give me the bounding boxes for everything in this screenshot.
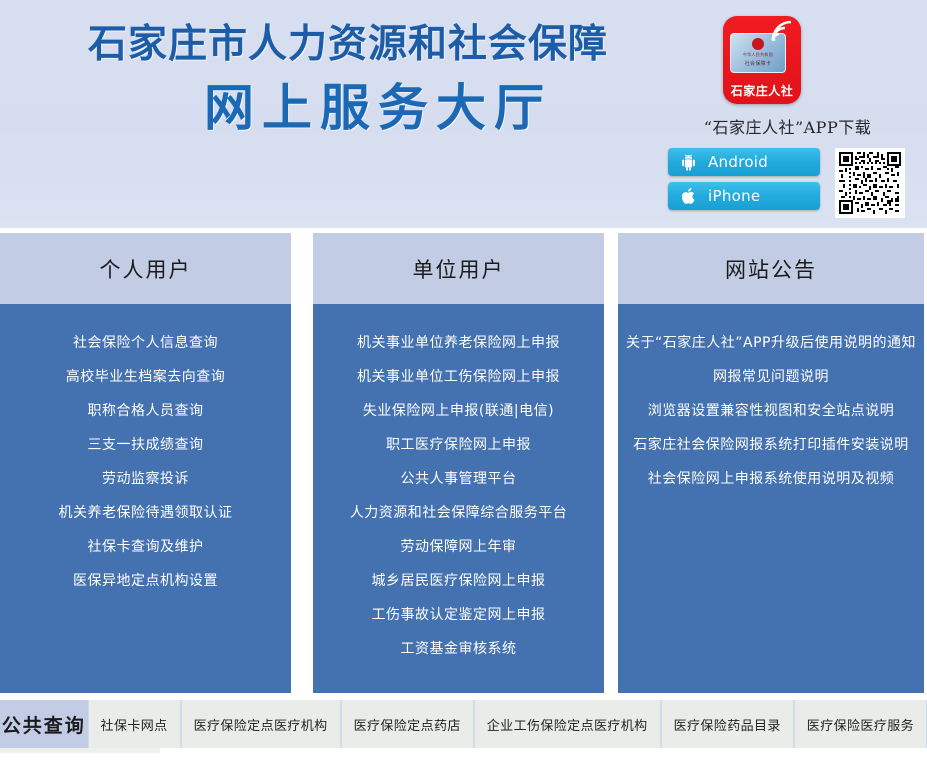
panel-body-announcements: 关于“石家庄人社”APP升级后使用说明的通知 网报常见问题说明 浏览器设置兼容性… xyxy=(618,304,924,693)
panel-title: 网站公告 xyxy=(725,254,817,284)
app-icon: 中华人民共和国 社会保障卡 石家庄人社 xyxy=(723,16,801,104)
public-query-tabs: 社保卡网点 医疗保险定点医疗机构 医疗保险定点药店 企业工伤保险定点医疗机构 医… xyxy=(88,700,927,748)
panel-link[interactable]: 社保卡查询及维护 xyxy=(0,530,291,564)
national-emblem-icon xyxy=(752,38,764,50)
panel-link[interactable]: 失业保险网上申报(联通|电信) xyxy=(313,394,604,428)
wifi-signal-icon xyxy=(771,20,795,42)
panel-personal-users: 个人用户 社会保险个人信息查询 高校毕业生档案去向查询 职称合格人员查询 三支一… xyxy=(0,233,291,693)
public-query-bar: 公共查询 社保卡网点 医疗保险定点医疗机构 医疗保险定点药店 企业工伤保险定点医… xyxy=(0,700,927,748)
page-footer-filler xyxy=(0,748,927,761)
tab-yaopin-mulu[interactable]: 医疗保险药品目录 xyxy=(661,700,794,748)
panel-link[interactable]: 机关养老保险待遇领取认证 xyxy=(0,496,291,530)
panel-link[interactable]: 社会保险网上申报系统使用说明及视频 xyxy=(618,462,924,496)
iphone-download-button[interactable]: iPhone xyxy=(668,182,820,210)
panel-unit-users: 单位用户 机关事业单位养老保险网上申报 机关事业单位工伤保险网上申报 失业保险网… xyxy=(313,233,604,693)
page-title-line2: 网上服务大厅 xyxy=(108,75,648,140)
panel-link[interactable]: 人力资源和社会保障综合服务平台 xyxy=(313,496,604,530)
panel-header-personal: 个人用户 xyxy=(0,233,291,304)
panel-link[interactable]: 工伤事故认定鉴定网上申报 xyxy=(313,598,604,632)
panel-link[interactable]: 三支一扶成绩查询 xyxy=(0,428,291,462)
panel-title: 个人用户 xyxy=(100,254,192,284)
panel-link[interactable]: 关于“石家庄人社”APP升级后使用说明的通知 xyxy=(618,326,924,360)
android-button-label: Android xyxy=(708,153,768,171)
panel-title: 单位用户 xyxy=(413,254,505,284)
panel-body-personal: 社会保险个人信息查询 高校毕业生档案去向查询 职称合格人员查询 三支一扶成绩查询… xyxy=(0,304,291,693)
panel-link[interactable]: 机关事业单位养老保险网上申报 xyxy=(313,326,604,360)
panel-link[interactable]: 机关事业单位工伤保险网上申报 xyxy=(313,360,604,394)
footer-left-strip xyxy=(0,748,160,753)
panel-link[interactable]: 城乡居民医疗保险网上申报 xyxy=(313,564,604,598)
tab-dingdian-yiliao-jigou[interactable]: 医疗保险定点医疗机构 xyxy=(181,700,341,748)
android-download-button[interactable]: Android xyxy=(668,148,820,176)
apple-icon xyxy=(668,187,708,205)
app-download-label: “石家庄人社”APP下载 xyxy=(655,114,920,138)
android-icon xyxy=(668,154,708,171)
tab-shebaoka-wangdian[interactable]: 社保卡网点 xyxy=(88,700,181,748)
tab-dingdian-yaodian[interactable]: 医疗保险定点药店 xyxy=(341,700,474,748)
card-text-bottom: 社会保障卡 xyxy=(731,60,785,67)
header-title-block: 石家庄市人力资源和社会保障 网上服务大厅 xyxy=(48,18,648,140)
app-icon-label: 石家庄人社 xyxy=(723,82,801,99)
page-title-line1: 石家庄市人力资源和社会保障 xyxy=(48,18,648,71)
store-button-group: Android iPhone xyxy=(668,148,823,216)
panel-link[interactable]: 网报常见问题说明 xyxy=(618,360,924,394)
panel-link[interactable]: 高校毕业生档案去向查询 xyxy=(0,360,291,394)
panel-link[interactable]: 劳动监察投诉 xyxy=(0,462,291,496)
page-header: 石家庄市人力资源和社会保障 网上服务大厅 中华人民共和国 社会保障卡 石家庄人社… xyxy=(0,0,927,228)
tab-yiliao-fuwu[interactable]: 医疗保险医疗服务 xyxy=(794,700,927,748)
app-download-block: 中华人民共和国 社会保障卡 石家庄人社 “石家庄人社”APP下载 xyxy=(655,14,920,224)
panel-link[interactable]: 医保异地定点机构设置 xyxy=(0,564,291,598)
qr-code-icon xyxy=(835,148,905,218)
tab-gongshang-dingdian-jigou[interactable]: 企业工伤保险定点医疗机构 xyxy=(474,700,661,748)
public-query-title: 公共查询 xyxy=(0,700,88,748)
panel-link[interactable]: 社会保险个人信息查询 xyxy=(0,326,291,360)
panel-header-unit: 单位用户 xyxy=(313,233,604,304)
panel-site-announcements: 网站公告 关于“石家庄人社”APP升级后使用说明的通知 网报常见问题说明 浏览器… xyxy=(618,233,924,693)
card-text-top: 中华人民共和国 xyxy=(731,52,785,58)
service-panels: 个人用户 社会保险个人信息查询 高校毕业生档案去向查询 职称合格人员查询 三支一… xyxy=(0,233,927,693)
panel-link[interactable]: 职称合格人员查询 xyxy=(0,394,291,428)
panel-link[interactable]: 公共人事管理平台 xyxy=(313,462,604,496)
panel-header-announcements: 网站公告 xyxy=(618,233,924,304)
panel-link[interactable]: 劳动保障网上年审 xyxy=(313,530,604,564)
panel-link[interactable]: 浏览器设置兼容性视图和安全站点说明 xyxy=(618,394,924,428)
iphone-button-label: iPhone xyxy=(708,187,760,205)
panel-link[interactable]: 职工医疗保险网上申报 xyxy=(313,428,604,462)
panel-link[interactable]: 石家庄社会保险网报系统打印插件安装说明 xyxy=(618,428,924,462)
panel-link[interactable]: 工资基金审核系统 xyxy=(313,632,604,666)
panel-body-unit: 机关事业单位养老保险网上申报 机关事业单位工伤保险网上申报 失业保险网上申报(联… xyxy=(313,304,604,693)
